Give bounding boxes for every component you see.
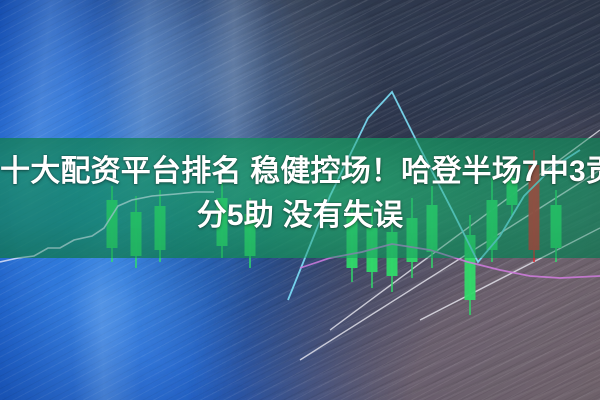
banner-image: 十大配资平台排名 稳健控场！哈登半场7中3贡献9 分5助 没有失误 [0, 0, 600, 400]
headline-line-1: 十大配资平台排名 稳健控场！哈登半场7中3贡献9 [0, 150, 600, 194]
headline-text: 十大配资平台排名 稳健控场！哈登半场7中3贡献9 分5助 没有失误 [0, 150, 600, 238]
headline-line-2: 分5助 没有失误 [0, 194, 600, 238]
